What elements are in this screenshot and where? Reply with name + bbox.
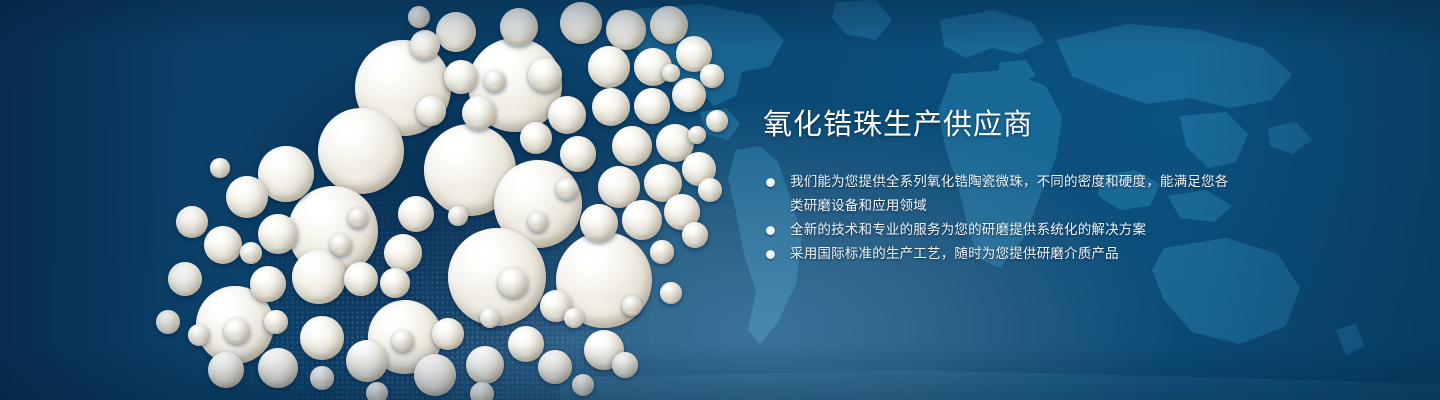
banner-headline: 氧化锆珠生产供应商 xyxy=(763,104,1233,144)
feature-item-2: 全新的技术和专业的服务为您的研磨提供系统化的解决方案 xyxy=(763,218,1233,242)
banner-copy-block: 氧化锆珠生产供应商 我们能为您提供全系列氧化锆陶瓷微珠，不同的密度和硬度，能满足… xyxy=(763,104,1233,266)
bullet-dot-icon xyxy=(766,226,775,235)
bullet-dot-icon xyxy=(766,250,775,259)
feature-item-2-text: 全新的技术和专业的服务为您的研磨提供系统化的解决方案 xyxy=(790,222,1146,238)
banner-feature-list: 我们能为您提供全系列氧化锆陶瓷微珠，不同的密度和硬度，能满足您各类研磨设备和应用… xyxy=(763,170,1233,266)
feature-item-1-text: 我们能为您提供全系列氧化锆陶瓷微珠，不同的密度和硬度，能满足您各类研磨设备和应用… xyxy=(790,174,1228,214)
bullet-dot-icon xyxy=(766,178,775,187)
feature-item-3-text: 采用国际标准的生产工艺，随时为您提供研磨介质产品 xyxy=(790,246,1119,262)
feature-item-1: 我们能为您提供全系列氧化锆陶瓷微珠，不同的密度和硬度，能满足您各类研磨设备和应用… xyxy=(763,170,1233,218)
feature-item-3: 采用国际标准的生产工艺，随时为您提供研磨介质产品 xyxy=(763,242,1233,266)
hero-banner: 氧化锆珠生产供应商 我们能为您提供全系列氧化锆陶瓷微珠，不同的密度和硬度，能满足… xyxy=(0,0,1440,400)
